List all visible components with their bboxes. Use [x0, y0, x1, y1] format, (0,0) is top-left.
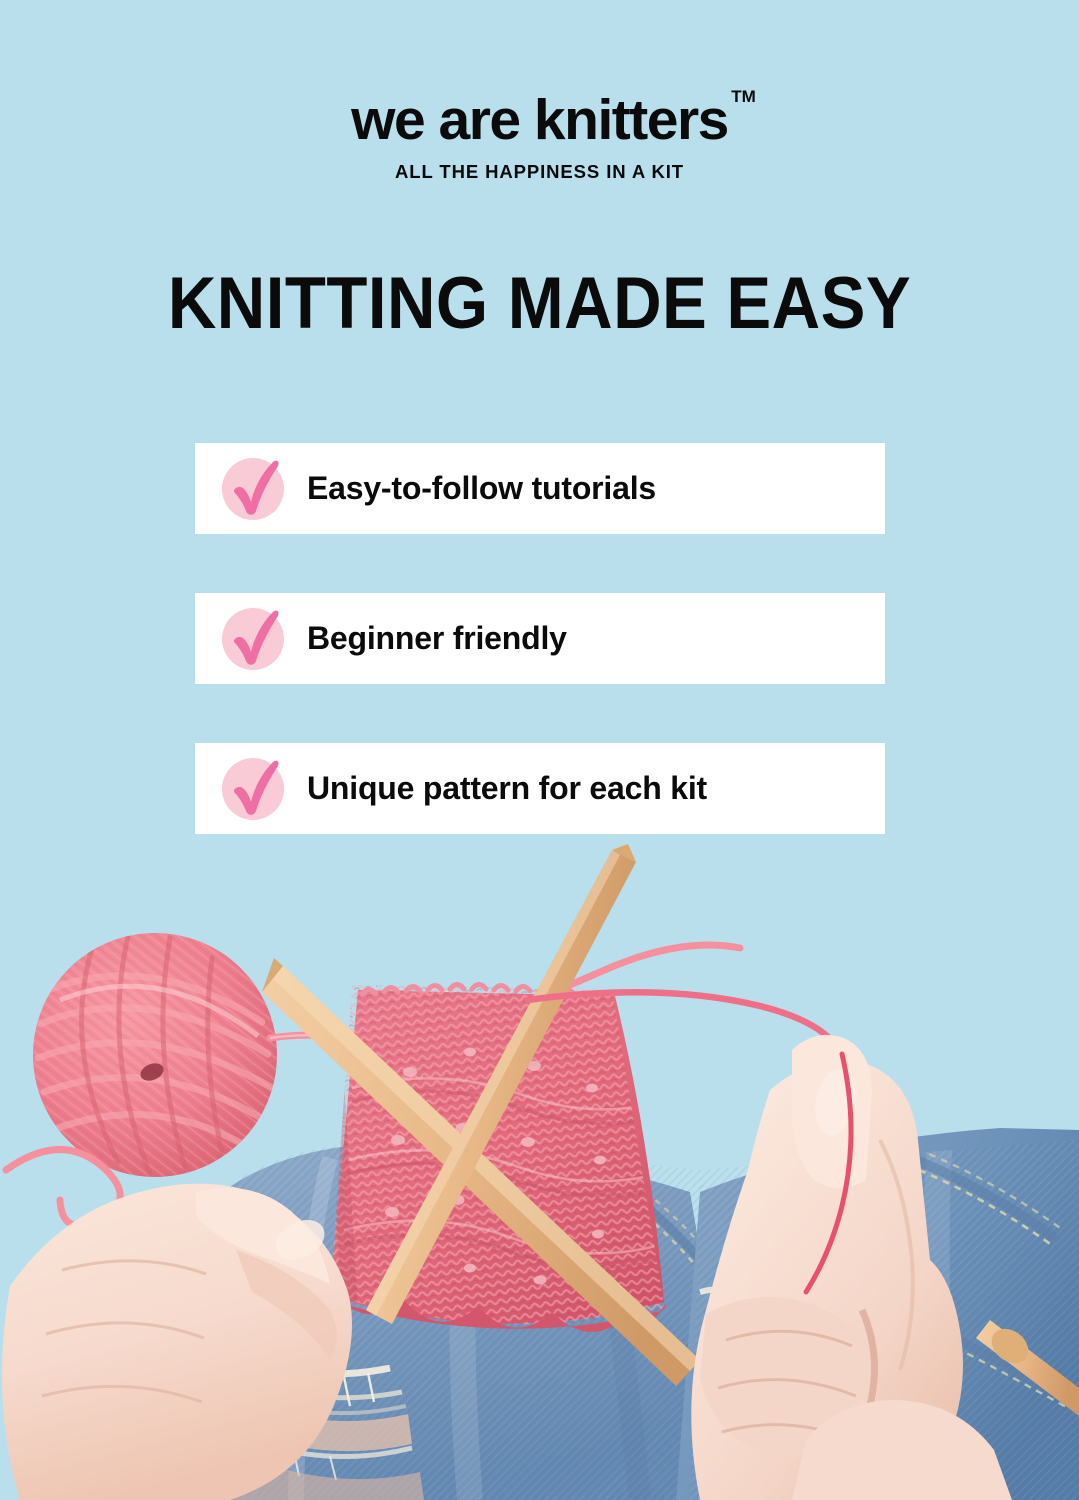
feature-card-label: Beginner friendly: [307, 620, 567, 657]
check-icon-glyph: [220, 602, 292, 674]
trademark-symbol: TM: [731, 88, 756, 105]
check-icon: [220, 756, 286, 822]
poster-root: we are knittersTM ALL THE HAPPINESS IN A…: [0, 0, 1079, 1500]
feature-card: Easy-to-follow tutorials: [195, 443, 885, 534]
brand-tagline: ALL THE HAPPINESS IN A KIT: [0, 161, 1079, 183]
feature-card: Unique pattern for each kit: [195, 743, 885, 834]
check-icon: [220, 456, 286, 522]
check-icon: [220, 606, 286, 672]
hero-photo: [0, 840, 1079, 1500]
brand-logo: we are knittersTM: [351, 92, 728, 149]
feature-card: Beginner friendly: [195, 593, 885, 684]
check-icon-glyph: [220, 452, 292, 524]
brand-header: we are knittersTM ALL THE HAPPINESS IN A…: [0, 92, 1079, 183]
check-icon-glyph: [220, 752, 292, 824]
brand-name-text: we are knitters: [351, 88, 728, 152]
page-title: KNITTING MADE EASY: [43, 267, 1036, 340]
hero-photo-illustration: [0, 840, 1079, 1500]
feature-card-list: Easy-to-follow tutorials Beginner friend…: [195, 443, 885, 834]
feature-card-label: Unique pattern for each kit: [307, 770, 707, 807]
feature-card-label: Easy-to-follow tutorials: [307, 470, 656, 507]
